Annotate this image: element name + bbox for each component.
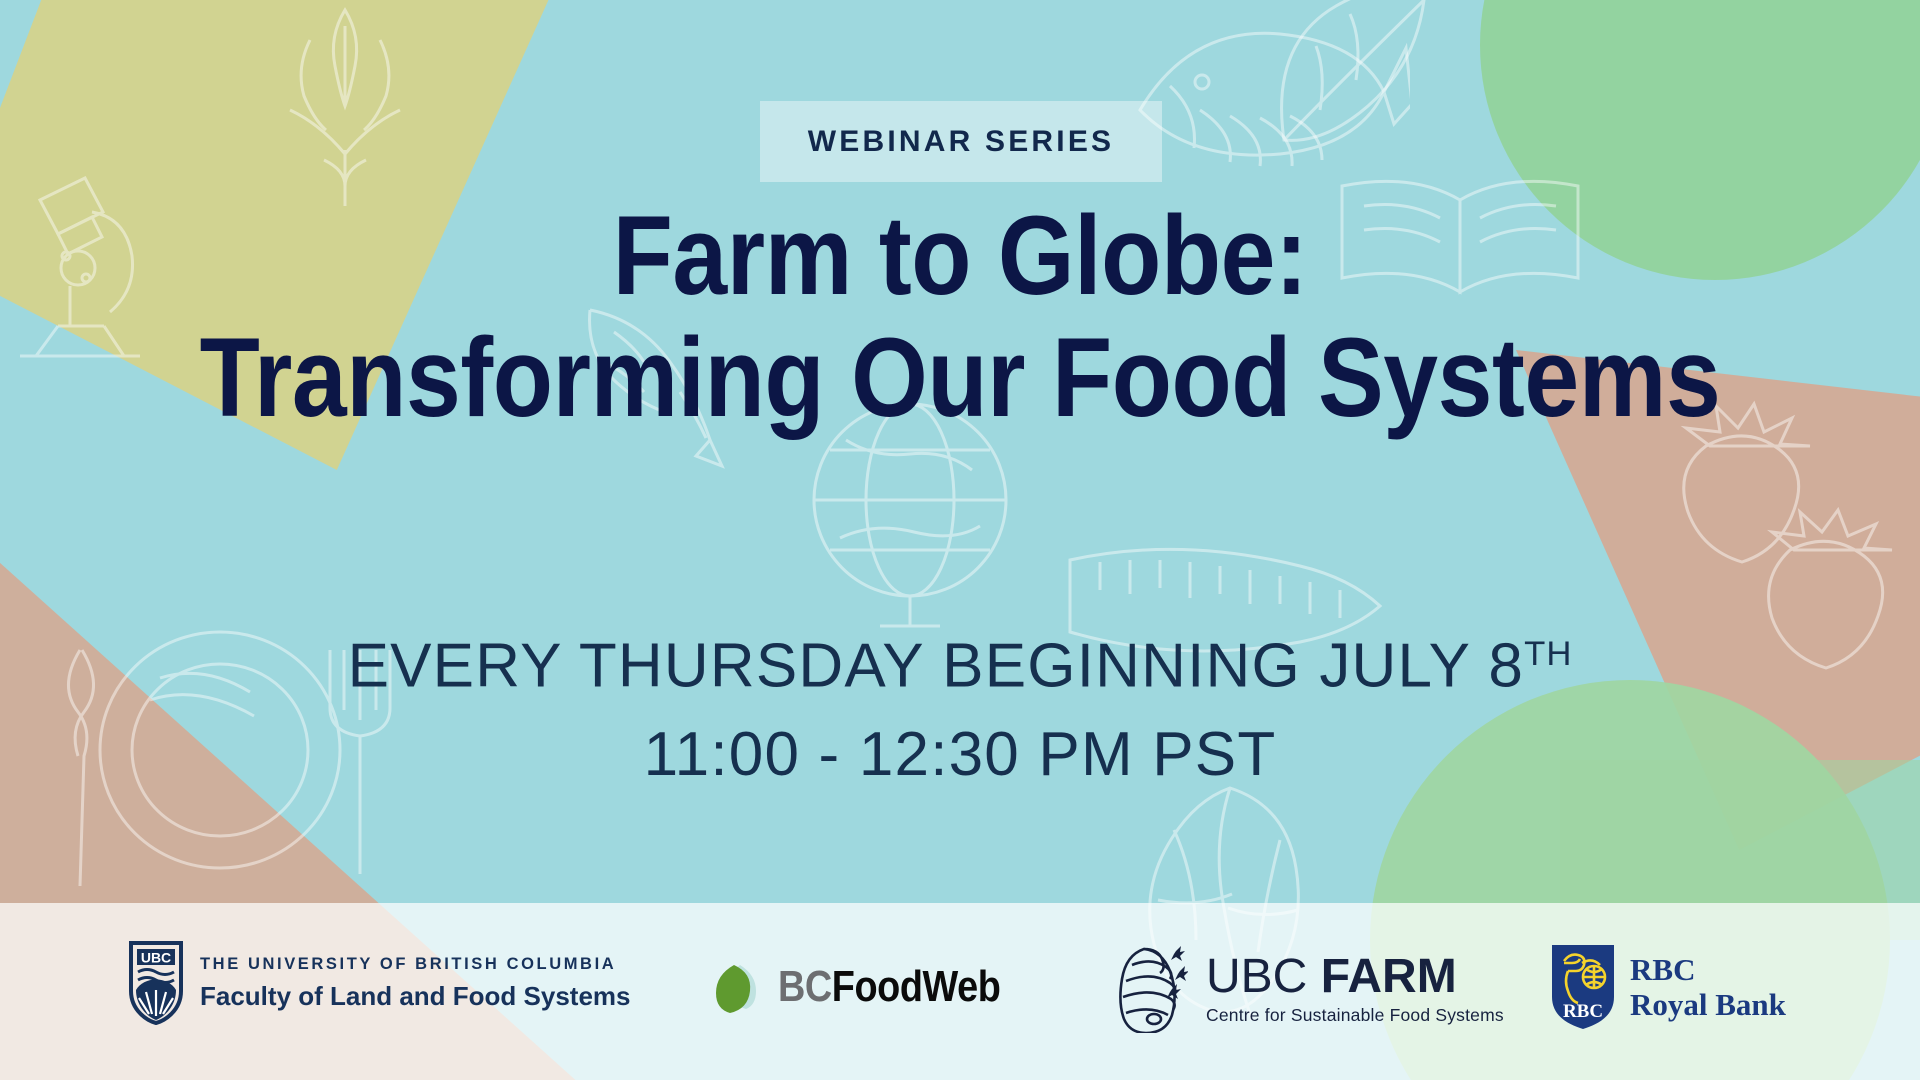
- logo-ubc-farm: UBC FARM Centre for Sustainable Food Sys…: [1110, 943, 1504, 1033]
- sponsor-logo-row: UBC THE UNIVERSITY OF BRITISH COLUMBIA F…: [0, 903, 1920, 1080]
- rbc-wordmark: RBC Royal Bank: [1630, 952, 1786, 1022]
- rbc-shield-icon: RBC: [1552, 945, 1614, 1029]
- ubc-farm-tagline: Centre for Sustainable Food Systems: [1206, 1005, 1504, 1026]
- webinar-series-label: WEBINAR SERIES: [808, 125, 1115, 159]
- ubc-farm-word-bold: FARM: [1321, 950, 1457, 1003]
- schedule-line-1-text: EVERY THURSDAY BEGINNING JULY 8: [348, 632, 1525, 701]
- title-line-2: Transforming Our Food Systems: [115, 317, 1805, 439]
- ubc-shield-icon: UBC: [128, 940, 184, 1026]
- beehive-icon: [1110, 943, 1188, 1033]
- wheat-sketch-icon: [250, 0, 440, 210]
- ubc-faculty-line: Faculty of Land and Food Systems: [200, 981, 631, 1012]
- webinar-series-badge: WEBINAR SERIES: [760, 101, 1162, 182]
- bc-foodweb-foodweb: FoodWeb: [832, 962, 1001, 1011]
- schedule-line-2: 11:00 - 12:30 PM PST: [0, 711, 1920, 799]
- ubc-farm-title: UBC FARM: [1206, 951, 1504, 1003]
- logo-ubc-lfs: UBC THE UNIVERSITY OF BRITISH COLUMBIA F…: [128, 940, 631, 1026]
- ubc-lfs-wordmark: THE UNIVERSITY OF BRITISH COLUMBIA Facul…: [200, 955, 631, 1012]
- logo-rbc-royal-bank: RBC RBC Royal Bank: [1552, 945, 1786, 1029]
- svg-text:RBC: RBC: [1563, 1001, 1603, 1022]
- bc-foodweb-wordmark: BCFoodWeb: [778, 962, 1000, 1012]
- schedule-line-1: EVERY THURSDAY BEGINNING JULY 8TH: [0, 610, 1920, 711]
- schedule-ordinal-suffix: TH: [1524, 635, 1572, 673]
- rbc-line-2: Royal Bank: [1630, 987, 1786, 1022]
- rbc-line-1: RBC: [1630, 952, 1786, 987]
- ubc-farm-wordmark: UBC FARM Centre for Sustainable Food Sys…: [1206, 951, 1504, 1026]
- leaf-sketch-icon: [1260, 0, 1440, 170]
- svg-text:UBC: UBC: [141, 950, 171, 966]
- ubc-university-line: THE UNIVERSITY OF BRITISH COLUMBIA: [200, 955, 631, 974]
- logo-bc-foodweb: BCFoodWeb: [712, 961, 1037, 1013]
- title-line-1: Farm to Globe:: [115, 195, 1805, 317]
- poster-title: Farm to Globe: Transforming Our Food Sys…: [0, 195, 1920, 439]
- ubc-farm-word-light: UBC: [1206, 950, 1307, 1003]
- schedule-block: EVERY THURSDAY BEGINNING JULY 8TH 11:00 …: [0, 610, 1920, 799]
- leaf-icon: [712, 961, 764, 1013]
- webinar-poster: WEBINAR SERIES Farm to Globe: Transformi…: [0, 0, 1920, 1080]
- bc-foodweb-bc: BC: [778, 962, 832, 1011]
